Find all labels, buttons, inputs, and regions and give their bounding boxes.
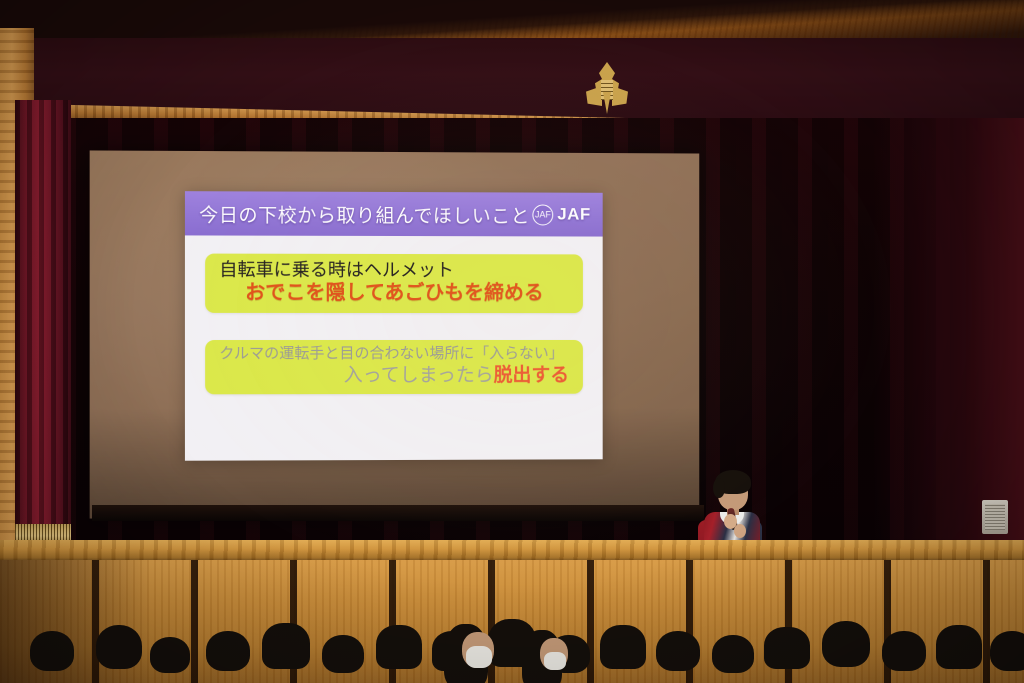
- stage-floor-grain: [0, 540, 1024, 562]
- slide-callout-box-2: クルマの運転手と目の合わない場所に「入らない」 入ってしまったら脱出する: [205, 340, 583, 394]
- screen-bottom-frame: [92, 505, 704, 521]
- audience-head: [882, 631, 926, 671]
- jaf-emblem-icon: JAF: [532, 204, 553, 225]
- school-emblem-icon: [586, 62, 628, 116]
- audience-head: [262, 623, 310, 669]
- crest-stem: [603, 92, 611, 114]
- callout-2-plain: 入ってしまったら: [344, 365, 494, 386]
- left-curtain-folds: [15, 100, 71, 530]
- audience-head: [990, 631, 1024, 671]
- presentation-slide: 今日の下校から取り組んでほしいこと JAF JAF 自転車に乗る時はヘルメット …: [185, 191, 603, 461]
- audience-head: [30, 631, 74, 671]
- jaf-logo-text: JAF: [557, 205, 591, 225]
- callout-1-line-1: 自転車に乗る時はヘルメット: [219, 259, 569, 282]
- speaker-grill: [985, 504, 1005, 530]
- jaf-logo: JAF JAF: [532, 204, 594, 225]
- slide-header-bar: 今日の下校から取り組んでほしいこと JAF JAF: [185, 191, 603, 236]
- wall-speaker: [982, 500, 1008, 534]
- audience-head: [150, 637, 190, 673]
- face-mask-icon: [544, 652, 566, 670]
- stage-floor-edge: [0, 540, 1024, 562]
- presenter-hand-right: [734, 524, 746, 538]
- projection-screen: 今日の下校から取り組んでほしいこと JAF JAF 自転車に乗る時はヘルメット …: [90, 150, 700, 518]
- audience-head: [96, 625, 142, 669]
- audience: [0, 612, 1024, 683]
- callout-2-line-2: 入ってしまったら脱出する: [219, 364, 569, 388]
- audience-head: [822, 621, 870, 667]
- callout-2-accent: 脱出する: [494, 365, 569, 386]
- audience-head: [322, 635, 364, 673]
- callout-2-line-1: クルマの運転手と目の合わない場所に「入らない」: [219, 345, 569, 364]
- slide-callout-box-1: 自転車に乗る時はヘルメット おでこを隠してあごひもを締める: [205, 254, 583, 314]
- audience-head: [764, 627, 810, 669]
- audience-head: [206, 631, 250, 671]
- curtain-gold-fringe: [15, 524, 71, 541]
- auditorium-photo: 今日の下校から取り組んでほしいこと JAF JAF 自転車に乗る時はヘルメット …: [0, 0, 1024, 683]
- left-stage-curtain: [15, 100, 71, 530]
- audience-head: [712, 635, 754, 673]
- audience-head: [376, 625, 422, 669]
- slide-body: 自転車に乗る時はヘルメット おでこを隠してあごひもを締める クルマの運転手と目の…: [185, 235, 603, 460]
- audience-head: [600, 625, 646, 669]
- slide-title: 今日の下校から取り組んでほしいこと: [199, 200, 532, 228]
- presenter-hair-side: [713, 478, 725, 498]
- fringe-threads: [15, 524, 71, 541]
- callout-1-line-2: おでこを隠してあごひもを締める: [219, 281, 569, 306]
- face-mask-icon: [466, 646, 492, 668]
- audience-head: [936, 625, 982, 669]
- audience-head: [656, 631, 700, 671]
